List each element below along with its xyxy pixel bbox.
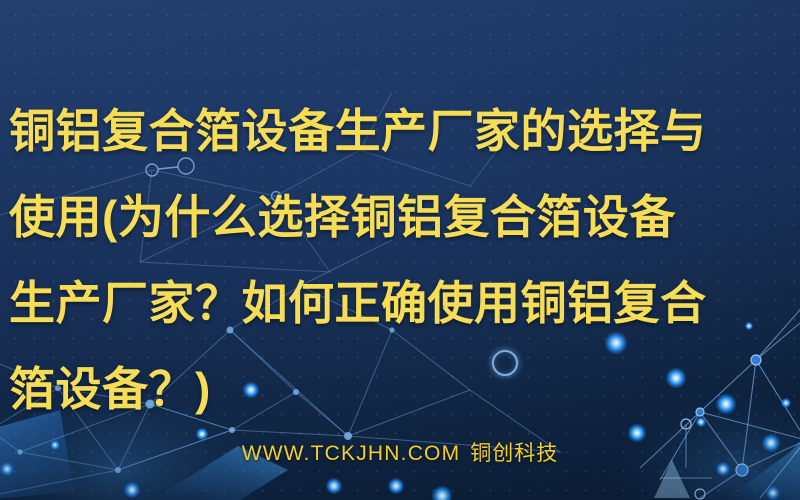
glow-particle xyxy=(766,486,780,500)
glow-particle xyxy=(388,478,404,494)
title-line-4: 箔设备？) xyxy=(9,346,795,432)
watermark: WWW.TCKJHN.COM铜创科技 xyxy=(0,437,800,467)
glow-particle xyxy=(326,478,342,494)
poster-canvas: 铜铝复合箔设备生产厂家的选择与 使用(为什么选择铜铝复合箔设备 生产厂家？如何正… xyxy=(0,0,800,500)
title-line-1: 铜铝复合箔设备生产厂家的选择与 xyxy=(9,88,795,174)
glow-particle xyxy=(124,482,140,498)
title-line-3: 生产厂家？如何正确使用铜铝复合 xyxy=(9,260,795,346)
title-line-2: 使用(为什么选择铜铝复合箔设备 xyxy=(9,174,795,260)
glow-particle xyxy=(432,486,452,500)
page-title: 铜铝复合箔设备生产厂家的选择与 使用(为什么选择铜铝复合箔设备 生产厂家？如何正… xyxy=(9,88,795,432)
watermark-url: WWW.TCKJHN.COM xyxy=(242,442,461,465)
watermark-brand: 铜创科技 xyxy=(470,442,558,465)
